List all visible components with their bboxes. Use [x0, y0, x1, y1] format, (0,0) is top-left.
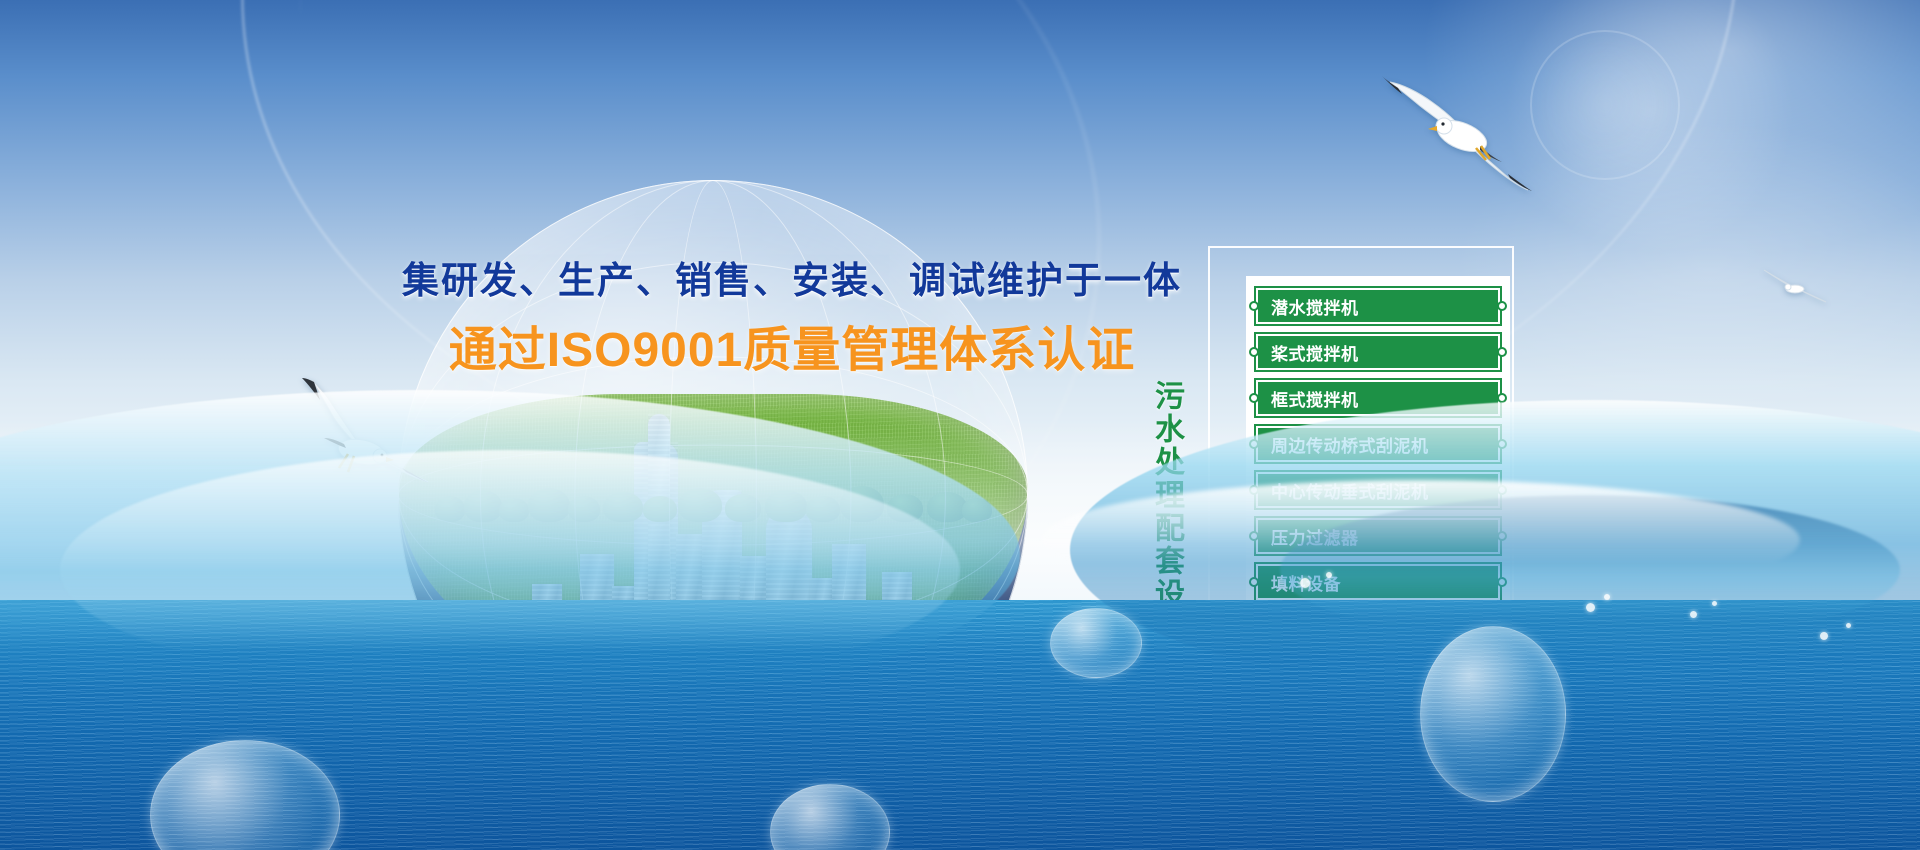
product-item-label: 中心传动垂式刮泥机	[1271, 478, 1429, 503]
seagull-icon	[1760, 262, 1830, 306]
product-item-body: 桨式搅拌机	[1258, 336, 1498, 368]
headline-line-2: 通过ISO9001质量管理体系认证	[392, 310, 1192, 380]
plate-knob-left-icon	[1249, 347, 1259, 357]
product-item-label: 周边传动桥式刮泥机	[1271, 432, 1429, 457]
bubble-icon	[1050, 608, 1142, 678]
plate-knob-right-icon	[1497, 393, 1507, 403]
product-item-label: 桨式搅拌机	[1271, 340, 1359, 365]
plate-knob-right-icon	[1497, 301, 1507, 311]
product-item[interactable]: 周边传动桥式刮泥机	[1254, 424, 1502, 464]
product-item-label: 潜水搅拌机	[1271, 294, 1359, 319]
product-item[interactable]: 潜水搅拌机	[1254, 286, 1502, 326]
product-item[interactable]: 桨式搅拌机	[1254, 332, 1502, 372]
bubble-icon	[1420, 626, 1566, 802]
water-graphic	[0, 520, 1920, 850]
headline-line-1: 集研发、生产、销售、安装、调试维护于一体	[392, 250, 1192, 304]
plate-knob-right-icon	[1497, 439, 1507, 449]
product-item-body: 潜水搅拌机	[1258, 290, 1498, 322]
plate-knob-left-icon	[1249, 393, 1259, 403]
product-item-body: 框式搅拌机	[1258, 382, 1498, 414]
seagull-icon	[300, 378, 430, 488]
product-item-body: 中心传动垂式刮泥机	[1258, 474, 1498, 506]
plate-knob-left-icon	[1249, 439, 1259, 449]
plate-knob-left-icon	[1249, 301, 1259, 311]
hero-banner: 集研发、生产、销售、安装、调试维护于一体 通过ISO9001质量管理体系认证 污…	[0, 0, 1920, 850]
product-item-label: 框式搅拌机	[1271, 386, 1359, 411]
plate-knob-right-icon	[1497, 485, 1507, 495]
lens-flare-ring-icon	[1530, 30, 1680, 180]
product-item[interactable]: 中心传动垂式刮泥机	[1254, 470, 1502, 510]
product-item-body: 周边传动桥式刮泥机	[1258, 428, 1498, 460]
seagull-icon	[1380, 62, 1540, 192]
plate-knob-left-icon	[1249, 485, 1259, 495]
sky-glow-icon	[1500, 0, 1800, 260]
plate-knob-right-icon	[1497, 347, 1507, 357]
headline-block: 集研发、生产、销售、安装、调试维护于一体 通过ISO9001质量管理体系认证	[392, 250, 1192, 380]
product-item[interactable]: 框式搅拌机	[1254, 378, 1502, 418]
